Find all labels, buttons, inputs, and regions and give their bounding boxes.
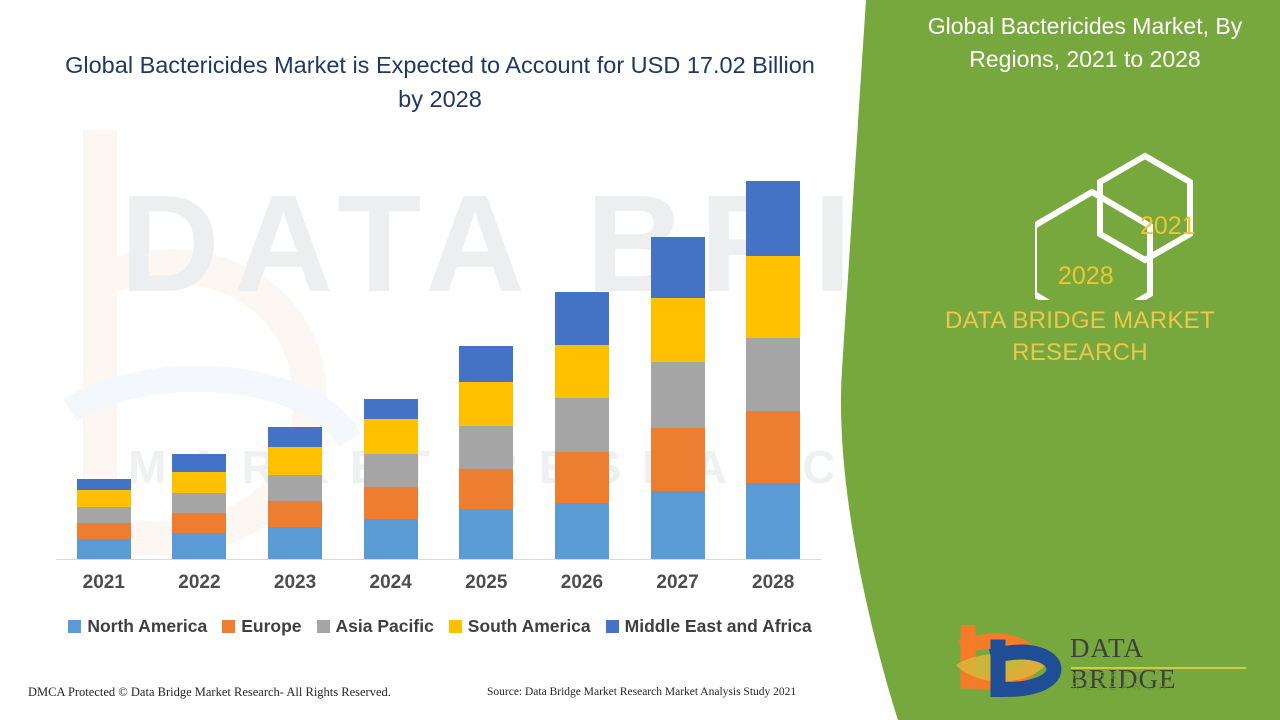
bar-segment[interactable] [172,472,226,493]
stacked-bar[interactable] [651,237,705,559]
stacked-bar[interactable] [172,454,226,559]
bar-segment[interactable] [746,181,800,256]
stacked-bar[interactable] [746,181,800,559]
panel-title: Global Bactericides Market, By Regions, … [900,10,1270,77]
bar-segment[interactable] [459,426,513,469]
bar-slot [725,150,821,559]
bar-segment[interactable] [651,491,705,559]
bar-segment[interactable] [364,519,418,559]
footer-source: Source: Data Bridge Market Research Mark… [487,686,796,698]
bar-slot [56,150,152,559]
legend-item[interactable]: Asia Pacific [317,616,434,637]
bar-segment[interactable] [459,469,513,509]
brand-name: DATA BRIDGE MARKET RESEARCH [890,305,1270,370]
bar-segment[interactable] [746,338,800,411]
x-axis-tick-label: 2026 [534,572,630,594]
bar-segment[interactable] [77,523,131,539]
legend-item[interactable]: North America [68,616,207,637]
stacked-bar[interactable] [459,346,513,559]
bar-segment[interactable] [555,503,609,559]
x-axis-tick-label: 2023 [247,572,343,594]
hexagon-year-2028: 2028 [1058,262,1114,291]
bar-segment[interactable] [651,298,705,362]
bar-group [56,150,821,559]
chart-legend: North AmericaEuropeAsia PacificSouth Ame… [50,616,830,637]
stacked-bar[interactable] [364,399,418,559]
hexagon-year-2021: 2021 [1140,212,1196,241]
bar-segment[interactable] [172,513,226,533]
footer-copyright: DMCA Protected © Data Bridge Market Rese… [28,685,391,700]
bar-segment[interactable] [172,493,226,513]
bar-segment[interactable] [172,533,226,559]
legend-item[interactable]: South America [449,616,591,637]
stacked-bar[interactable] [268,427,322,559]
legend-swatch-icon [222,620,235,633]
bar-slot [247,150,343,559]
legend-item[interactable]: Middle East and Africa [606,616,812,637]
bar-segment[interactable] [364,487,418,519]
infographic-root: DATA BRIDGE MARKET RESEARCH Global Bacte… [0,0,1280,720]
bar-segment[interactable] [268,427,322,447]
legend-swatch-icon [68,620,81,633]
x-axis-labels: 20212022202320242025202620272028 [56,572,821,594]
x-axis-tick-label: 2025 [439,572,535,594]
bar-segment[interactable] [555,345,609,398]
bar-segment[interactable] [77,490,131,507]
hexagon-group: 2021 2028 [1035,140,1255,300]
stacked-bar[interactable] [77,479,131,559]
chart-title: Global Bactericides Market is Expected t… [60,48,820,116]
x-axis-tick-label: 2021 [56,572,152,594]
bar-segment[interactable] [459,382,513,426]
x-axis-tick-label: 2028 [725,572,821,594]
stacked-bar[interactable] [555,292,609,559]
legend-label: Middle East and Africa [625,616,812,637]
bar-segment[interactable] [268,501,322,527]
bar-segment[interactable] [172,454,226,472]
bar-segment[interactable] [268,527,322,559]
bar-segment[interactable] [364,419,418,454]
logo-divider [1071,667,1246,669]
bar-segment[interactable] [555,292,609,345]
legend-item[interactable]: Europe [222,616,301,637]
bar-segment[interactable] [651,237,705,298]
bar-slot [343,150,439,559]
x-axis-tick-label: 2022 [152,572,248,594]
bar-segment[interactable] [77,507,131,523]
legend-swatch-icon [317,620,330,633]
bar-segment[interactable] [459,509,513,559]
bar-segment[interactable] [555,452,609,503]
legend-label: Asia Pacific [336,616,434,637]
bar-segment[interactable] [77,539,131,559]
company-logo: DATA BRIDGE MARKET RESEARCH [950,625,1250,697]
bar-segment[interactable] [651,362,705,428]
bar-segment[interactable] [364,454,418,487]
x-axis-tick-label: 2024 [343,572,439,594]
right-green-panel: Global Bactericides Market, By Regions, … [820,0,1280,720]
legend-label: Europe [241,616,301,637]
bar-segment[interactable] [364,399,418,419]
legend-label: North America [87,616,207,637]
bar-segment[interactable] [746,483,800,559]
bar-segment[interactable] [459,346,513,382]
x-axis-line [56,559,821,560]
green-panel-content: Global Bactericides Market, By Regions, … [880,0,1280,720]
logo-tagline: MARKET RESEARCH [1072,671,1250,693]
bar-segment[interactable] [746,411,800,483]
bar-segment[interactable] [77,479,131,490]
bar-slot [534,150,630,559]
bar-slot [439,150,535,559]
chart-plot-area [56,150,826,560]
bar-segment[interactable] [268,447,322,475]
bar-segment[interactable] [746,256,800,338]
bar-segment[interactable] [651,428,705,491]
bar-segment[interactable] [268,475,322,501]
x-axis-tick-label: 2027 [630,572,726,594]
bar-segment[interactable] [555,398,609,452]
legend-swatch-icon [449,620,462,633]
legend-swatch-icon [606,620,619,633]
bar-slot [152,150,248,559]
legend-label: South America [468,616,591,637]
bar-slot [630,150,726,559]
